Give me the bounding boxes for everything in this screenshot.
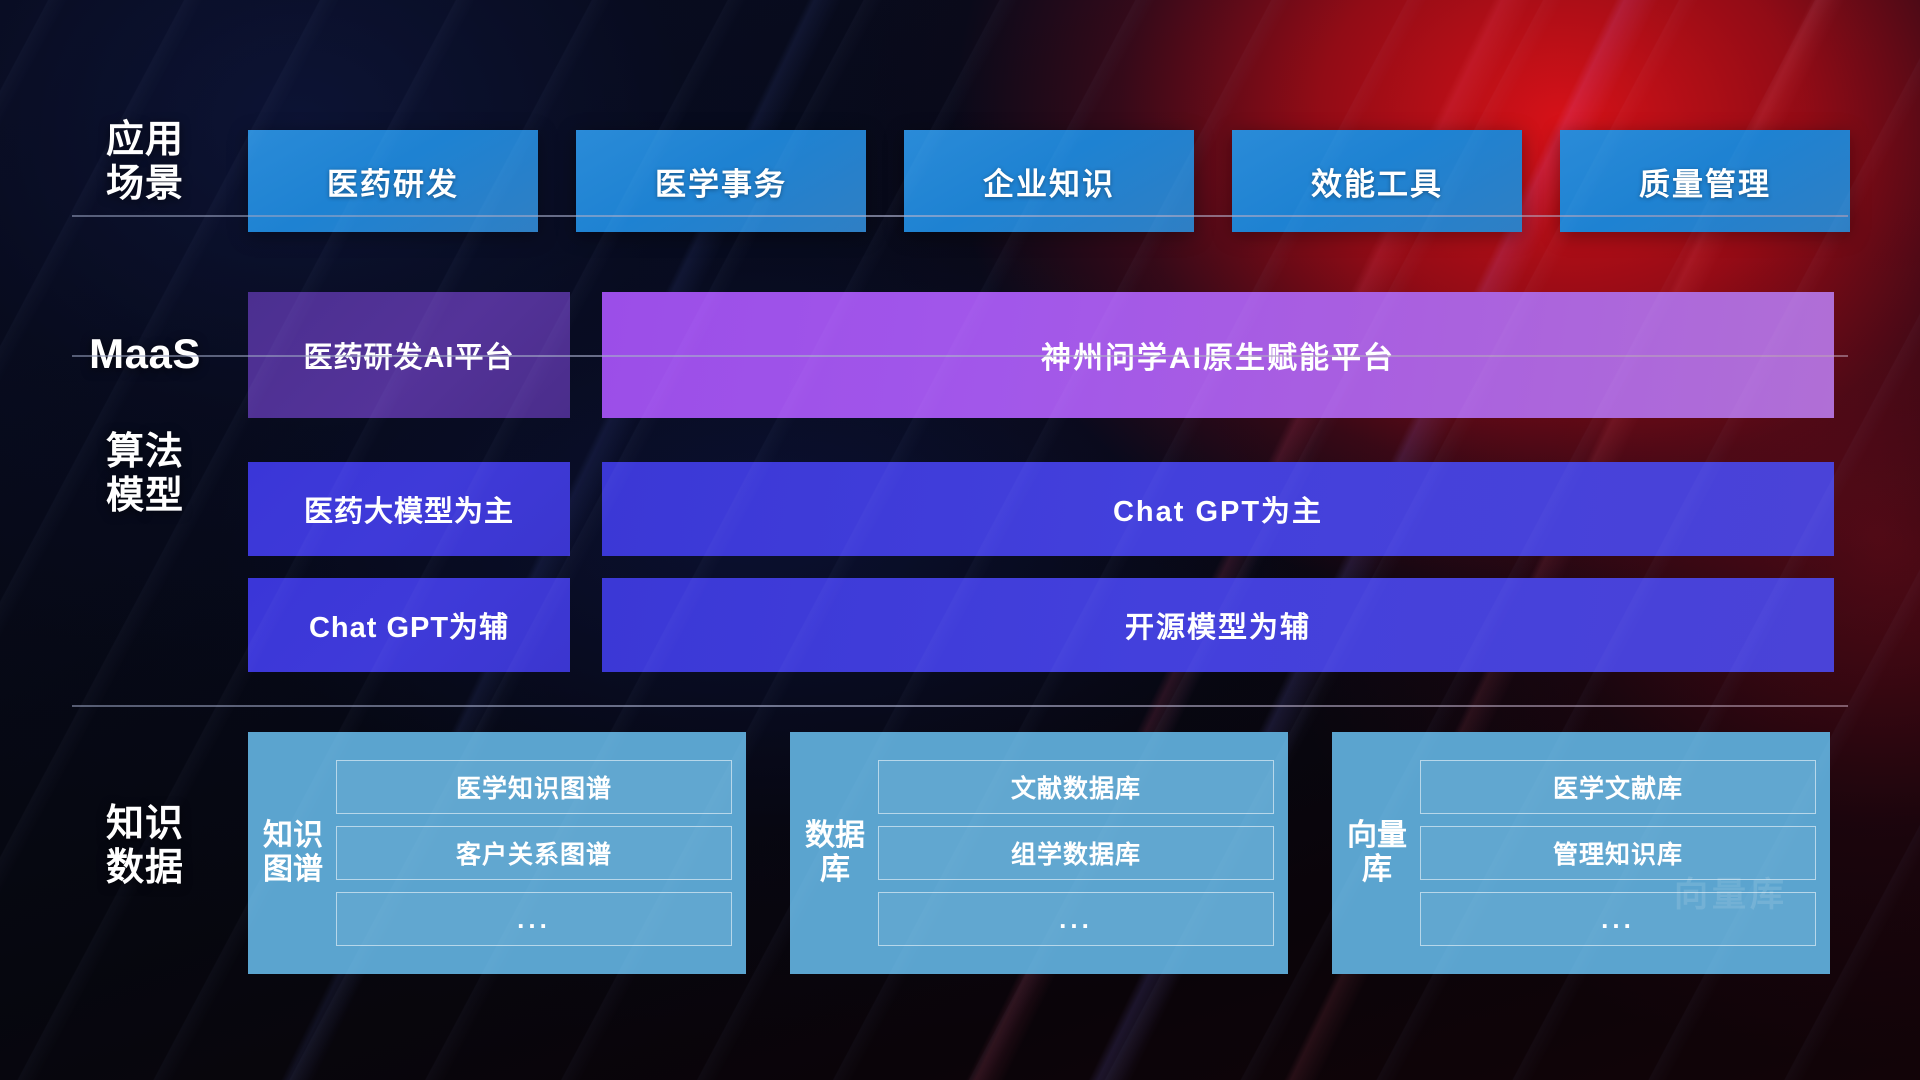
- knowledge-panel-graph-title: 知识图谱: [256, 819, 330, 887]
- row-label-knowledge-line2: 数据: [72, 846, 218, 890]
- knowledge-item-vector-2[interactable]: 管理知识库: [1420, 826, 1816, 880]
- row-label-algorithm-line1: 算法: [72, 430, 218, 474]
- algorithm-line-1: 医药大模型为主 Chat GPT为主: [248, 462, 1834, 556]
- row-label-knowledge: 知识 数据: [72, 802, 218, 890]
- knowledge-item-vector-3[interactable]: ...: [1420, 892, 1816, 946]
- knowledge-item-graph-3[interactable]: ...: [336, 892, 732, 946]
- divider-3: [72, 705, 1848, 707]
- row-label-knowledge-line1: 知识: [72, 802, 218, 846]
- knowledge-item-graph-1[interactable]: 医学知识图谱: [336, 760, 732, 814]
- algorithm-line-2: Chat GPT为辅 开源模型为辅: [248, 578, 1834, 672]
- knowledge-panel-database-title: 数据库: [798, 819, 872, 887]
- knowledge-panel-vector-items: 医学文献库 管理知识库 ...: [1414, 760, 1816, 946]
- slide-canvas: 应用 场景 医药研发 医学事务 企业知识 效能工具 质量管理 MaaS 医药研发…: [0, 0, 1920, 1080]
- algorithm-row: 医药大模型为主 Chat GPT为主 Chat GPT为辅 开源模型为辅: [248, 462, 1834, 694]
- knowledge-panel-database[interactable]: 数据库 文献数据库 组学数据库 ...: [790, 732, 1288, 974]
- knowledge-panel-database-items: 文献数据库 组学数据库 ...: [872, 760, 1274, 946]
- row-label-algorithm: 算法 模型: [72, 430, 218, 518]
- knowledge-panel-graph[interactable]: 知识图谱 医学知识图谱 客户关系图谱 ...: [248, 732, 746, 974]
- algorithm-box-secondary-right[interactable]: 开源模型为辅: [602, 578, 1834, 672]
- knowledge-item-graph-2[interactable]: 客户关系图谱: [336, 826, 732, 880]
- row-label-app-scenario: 应用 场景: [72, 118, 218, 206]
- knowledge-item-database-3[interactable]: ...: [878, 892, 1274, 946]
- knowledge-item-database-1[interactable]: 文献数据库: [878, 760, 1274, 814]
- knowledge-row: 知识图谱 医学知识图谱 客户关系图谱 ... 数据库 文献数据库 组学数据库 .…: [248, 732, 1830, 974]
- row-label-app-scenario-line1: 应用: [72, 118, 218, 162]
- algorithm-box-primary-left[interactable]: 医药大模型为主: [248, 462, 570, 556]
- algorithm-box-primary-right[interactable]: Chat GPT为主: [602, 462, 1834, 556]
- divider-2: [72, 355, 1848, 357]
- row-label-algorithm-line2: 模型: [72, 474, 218, 518]
- knowledge-item-database-2[interactable]: 组学数据库: [878, 826, 1274, 880]
- row-label-app-scenario-line2: 场景: [72, 162, 218, 206]
- algorithm-box-secondary-left[interactable]: Chat GPT为辅: [248, 578, 570, 672]
- knowledge-item-vector-1[interactable]: 医学文献库: [1420, 760, 1816, 814]
- knowledge-panel-vector[interactable]: 向量库 医学文献库 管理知识库 ... 向量库: [1332, 732, 1830, 974]
- architecture-diagram: 应用 场景 医药研发 医学事务 企业知识 效能工具 质量管理 MaaS 医药研发…: [0, 0, 1920, 1080]
- divider-1: [72, 215, 1848, 217]
- knowledge-panel-vector-title: 向量库: [1340, 819, 1414, 887]
- knowledge-panel-graph-items: 医学知识图谱 客户关系图谱 ...: [330, 760, 732, 946]
